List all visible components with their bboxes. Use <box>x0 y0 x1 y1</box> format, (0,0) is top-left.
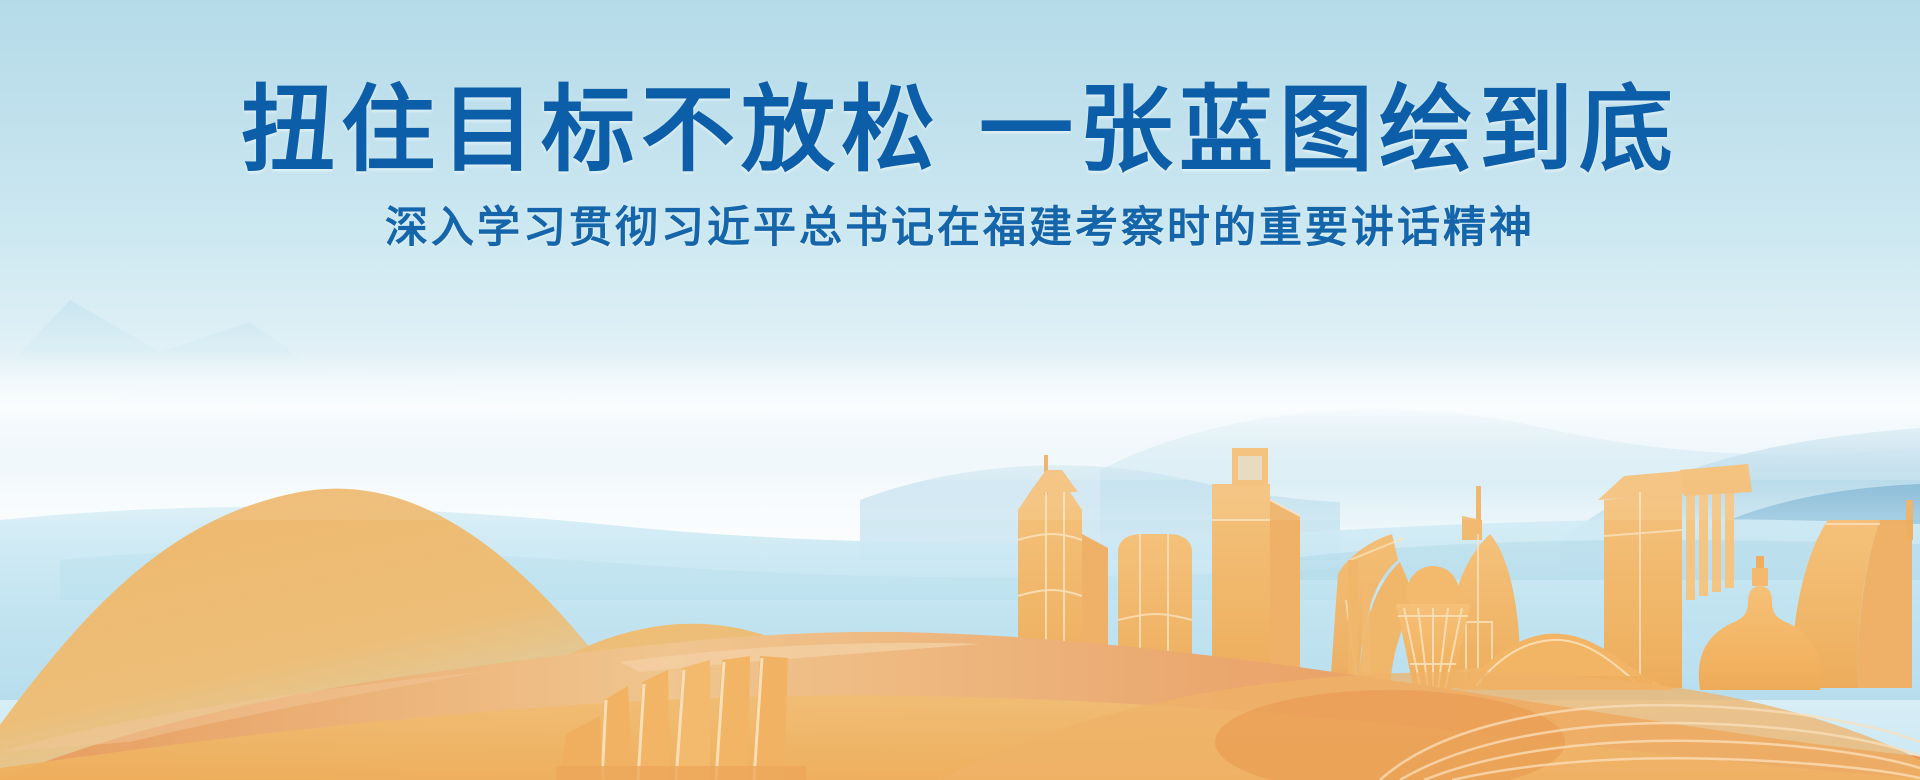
illustration-scene <box>0 0 1920 780</box>
banner-root: 扭住目标不放松一张蓝图绘到底 深入学习贯彻习近平总书记在福建考察时的重要讲话精神 <box>0 0 1920 780</box>
